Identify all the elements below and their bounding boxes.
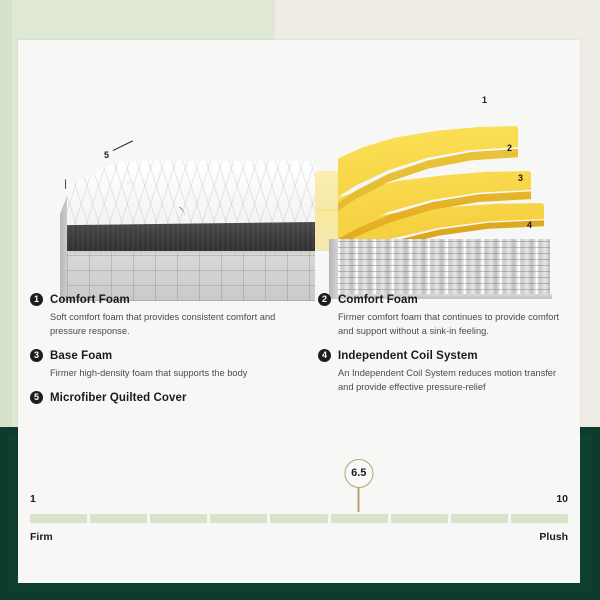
firmness-scale-segment[interactable]: [270, 514, 327, 523]
feature-description: An Independent Coil System reduces motio…: [338, 366, 574, 394]
feature-title: Microfiber Quilted Cover: [50, 392, 187, 404]
page-root: 1 2 3 4 5 1 Comfort Foam Soft comfort fo…: [0, 0, 600, 600]
feature-item-base-foam: 3 Base Foam Firmer high-density foam tha…: [30, 349, 286, 380]
firmness-scale-track[interactable]: [30, 514, 568, 523]
firmness-value-bubble: 6.5: [344, 459, 373, 488]
feature-item-independent-coil-system: 4 Independent Coil System An Independent…: [318, 349, 574, 394]
feature-item-comfort-foam-1: 1 Comfort Foam Soft comfort foam that pr…: [30, 293, 286, 338]
mattress-gusset-band: [67, 222, 315, 253]
feature-list: 1 Comfort Foam Soft comfort foam that pr…: [18, 293, 580, 453]
callout-3: 3: [518, 173, 523, 183]
firmness-marker-stem: [358, 488, 360, 512]
firmness-max-label: 10: [556, 493, 568, 505]
feature-description: Firmer high-density foam that supports t…: [50, 366, 286, 380]
callout-1: 1: [482, 95, 487, 105]
feature-heading: 2 Comfort Foam: [318, 293, 574, 306]
feature-title: Comfort Foam: [50, 294, 130, 306]
firmness-scale-segment[interactable]: [451, 514, 508, 523]
feature-heading: 4 Independent Coil System: [318, 349, 574, 362]
feature-number-badge: 5: [30, 391, 43, 404]
firmness-right-descriptor: Plush: [539, 531, 568, 543]
feature-title: Base Foam: [50, 350, 112, 362]
feature-item-comfort-foam-2: 2 Comfort Foam Firmer comfort foam that …: [318, 293, 574, 338]
callout-5: 5: [104, 150, 109, 160]
feature-item-microfiber-quilted-cover: 5 Microfiber Quilted Cover: [30, 391, 286, 404]
firmness-scale-segment[interactable]: [331, 514, 388, 523]
frame-accent-green-light-edge: [0, 0, 12, 428]
feature-heading: 1 Comfort Foam: [30, 293, 286, 306]
firmness-scale-segment[interactable]: [511, 514, 568, 523]
coil-spring-texture: [338, 239, 550, 296]
firmness-scale-segment[interactable]: [30, 514, 87, 523]
firmness-marker: 6.5: [30, 459, 568, 519]
firmness-marker-inner: 6.5: [344, 459, 373, 512]
firmness-scale-segment[interactable]: [150, 514, 207, 523]
content-card: 1 2 3 4 5 1 Comfort Foam Soft comfort fo…: [18, 40, 580, 583]
feature-number-badge: 2: [318, 293, 331, 306]
mattress-illustration: 1 2 3 4 5: [18, 40, 580, 250]
feature-column-left: 1 Comfort Foam Soft comfort foam that pr…: [30, 293, 286, 415]
feature-title: Independent Coil System: [338, 350, 478, 362]
firmness-scale-segment[interactable]: [90, 514, 147, 523]
feature-number-badge: 1: [30, 293, 43, 306]
feature-description: Soft comfort foam that provides consiste…: [50, 310, 286, 338]
foam-layer-blend-upper: [315, 171, 341, 211]
feature-description: Firmer comfort foam that continues to pr…: [338, 310, 574, 338]
firmness-scale-segment[interactable]: [391, 514, 448, 523]
firmness-left-descriptor: Firm: [30, 531, 53, 543]
feature-number-badge: 4: [318, 349, 331, 362]
feature-heading: 5 Microfiber Quilted Cover: [30, 391, 286, 404]
feature-heading: 3 Base Foam: [30, 349, 286, 362]
callout-5-leader-line: [113, 140, 133, 151]
firmness-min-label: 1: [30, 493, 36, 505]
firmness-scale-segment[interactable]: [210, 514, 267, 523]
callout-2: 2: [507, 143, 512, 153]
feature-number-badge: 3: [30, 349, 43, 362]
callout-4: 4: [527, 220, 532, 230]
feature-column-right: 2 Comfort Foam Firmer comfort foam that …: [318, 293, 574, 405]
feature-title: Comfort Foam: [338, 294, 418, 306]
firmness-scale: 1 10 6.5 Firm Plush: [18, 455, 580, 583]
